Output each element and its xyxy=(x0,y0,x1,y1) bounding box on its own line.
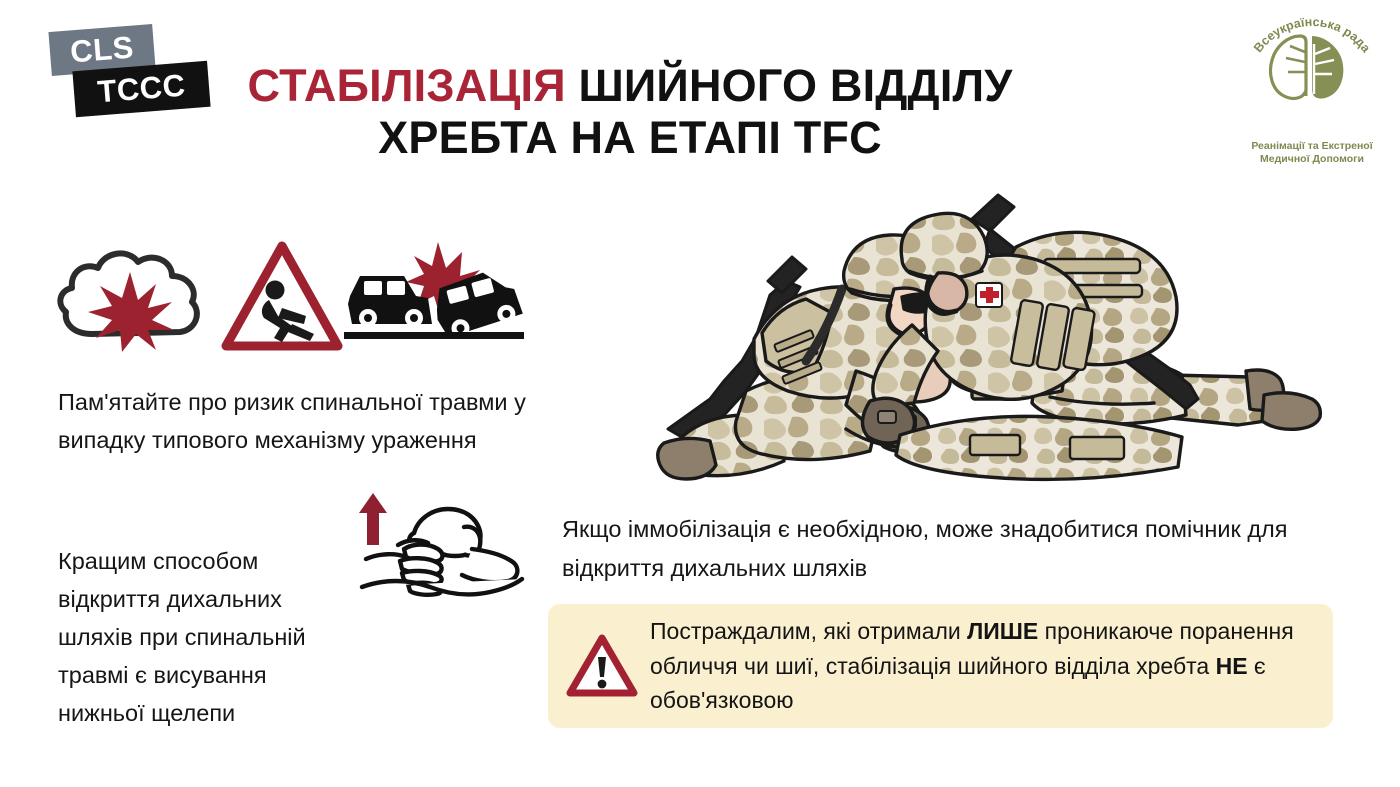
org-subtitle-line-2: Медичної Допомоги xyxy=(1232,153,1392,166)
title-line-1: СТАБІЛІЗАЦІЯ ШИЙНОГО ВІДДІЛУ xyxy=(230,60,1030,112)
soldiers-cervical-stabilization-illustration xyxy=(650,185,1370,490)
title-line-1-rest: ШИЙНОГО ВІДДІЛУ xyxy=(566,60,1013,111)
title-accent-word: СТАБІЛІЗАЦІЯ xyxy=(248,60,566,111)
red-cross-patch xyxy=(976,283,1002,307)
cls-tccc-logo: CLS TCCC xyxy=(46,24,246,134)
car-crash-icon xyxy=(342,238,527,358)
lung-tree-icon: Всеукраїнська рада xyxy=(1232,6,1392,102)
title-line-2: ХРЕБТА НА ЕТАПІ TFC xyxy=(230,112,1030,164)
warning-text-bold-lyshe: ЛИШЕ xyxy=(967,618,1038,644)
paragraph-immobilisation: Якщо іммобілізація є необхідною, може зн… xyxy=(562,510,1302,587)
warning-text-part-1: Постраждалим, які отримали xyxy=(650,618,967,644)
paragraph-mechanism-of-injury: Пам'ятайте про ризик спинальної травми у… xyxy=(58,383,528,459)
tccc-badge: TCCC xyxy=(72,61,210,117)
falling-person-warning-triangle-icon xyxy=(220,238,345,356)
warning-callout: Постраждалим, які отримали ЛИШЕ проникаю… xyxy=(548,604,1333,728)
org-subtitle-line-1: Реанімації та Екстреної xyxy=(1232,140,1392,153)
organisation-logo-subtitle: Реанімації та Екстреної Медичної Допомог… xyxy=(1232,140,1392,166)
jaw-thrust-arrow-icon xyxy=(359,493,387,545)
warning-callout-text: Постраждалим, які отримали ЛИШЕ проникаю… xyxy=(650,614,1311,719)
slide-canvas: CLS TCCC СТАБІЛІЗАЦІЯ ШИЙНОГО ВІДДІЛУ ХР… xyxy=(0,0,1400,787)
warning-exclamation-triangle-icon xyxy=(566,633,638,699)
warning-text-bold-ne: НЕ xyxy=(1216,653,1248,679)
explosion-blast-icon xyxy=(52,238,222,358)
hazard-icon-row xyxy=(52,238,532,363)
jaw-thrust-hands-icon xyxy=(352,487,552,617)
organisation-logo: Всеукраїнська рада Реанімації та Екстрен… xyxy=(1232,6,1392,186)
paragraph-jaw-thrust: Кращим способом відкриття дихальних шлях… xyxy=(58,542,358,732)
page-title: СТАБІЛІЗАЦІЯ ШИЙНОГО ВІДДІЛУ ХРЕБТА НА Е… xyxy=(230,60,1030,164)
